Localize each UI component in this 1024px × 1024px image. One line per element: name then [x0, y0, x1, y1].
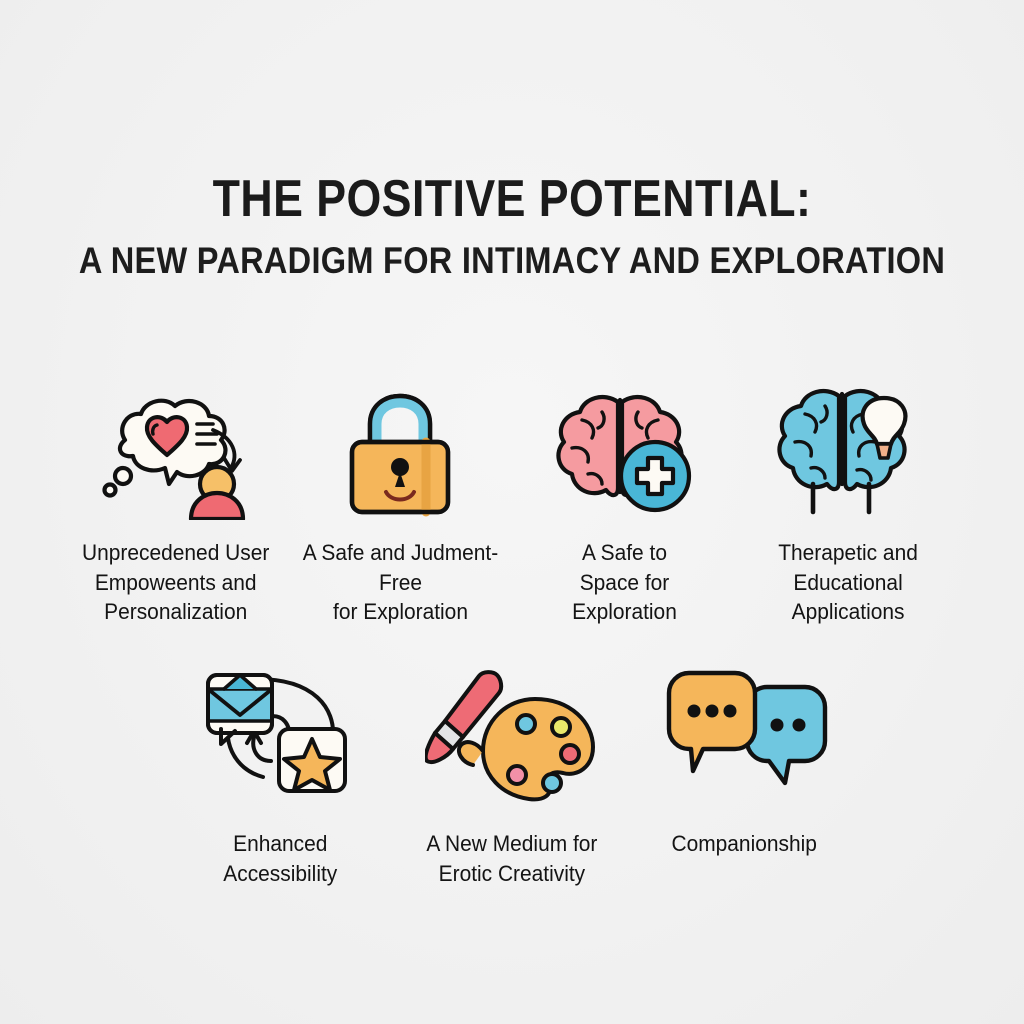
feature-item-therapeutic-educational[interactable]: Therapetic and Educational Applications: [736, 388, 960, 627]
feature-label: Companionship: [671, 829, 816, 859]
paintbrush-palette-icon: [425, 665, 600, 805]
feature-item-safe-judgment-free[interactable]: A Safe and Judment-Free for Exploration: [288, 388, 512, 627]
feature-label: Enhanced Accessibility: [223, 829, 337, 888]
title-block: The Positive Potential: A New Paradigm f…: [0, 172, 1024, 282]
feature-item-accessibility[interactable]: Enhanced Accessibility: [164, 665, 396, 888]
infographic-poster: The Positive Potential: A New Paradigm f…: [0, 0, 1024, 1024]
feature-label: A Safe and Judment-Free for Exploration: [300, 538, 500, 627]
padlock-smile-icon: [330, 388, 470, 520]
icon-wrap: [195, 665, 365, 805]
icon-wrap: [771, 388, 926, 520]
feature-label: Therapetic and Educational Applications: [778, 538, 918, 627]
brain-medical-cross-icon: [544, 388, 704, 520]
icon-wrap: [659, 665, 829, 805]
brain-lightbulb-icon: [771, 384, 926, 524]
thought-bubble-heart-person-icon: [91, 388, 261, 520]
feature-item-safe-space[interactable]: A Safe to Space for Exploration: [512, 388, 736, 627]
page-subtitle: A New Paradigm for Intimacy and Explorat…: [61, 241, 962, 282]
feature-item-erotic-creativity[interactable]: A New Medium for Erotic Creativity: [396, 665, 628, 888]
speech-bubbles-icon: [659, 665, 829, 805]
icon-wrap: [425, 665, 600, 805]
page-title: The Positive Potential:: [72, 172, 953, 227]
icon-wrap: [91, 388, 261, 520]
feature-item-personalization[interactable]: Unprecedened User Empoweents and Persona…: [64, 388, 288, 627]
icon-wrap: [544, 388, 704, 520]
message-star-exchange-icon: [195, 665, 365, 805]
feature-item-companionship[interactable]: Companionship: [628, 665, 860, 859]
feature-label: A Safe to Space for Exploration: [524, 538, 724, 627]
feature-label: Unprecedened User Empoweents and Persona…: [82, 538, 269, 627]
feature-label: A New Medium for Erotic Creativity: [427, 829, 598, 888]
feature-row-one: Unprecedened User Empoweents and Persona…: [0, 388, 1024, 627]
icon-wrap: [330, 388, 470, 520]
feature-row-two: Enhanced Accessibility: [0, 665, 1024, 888]
